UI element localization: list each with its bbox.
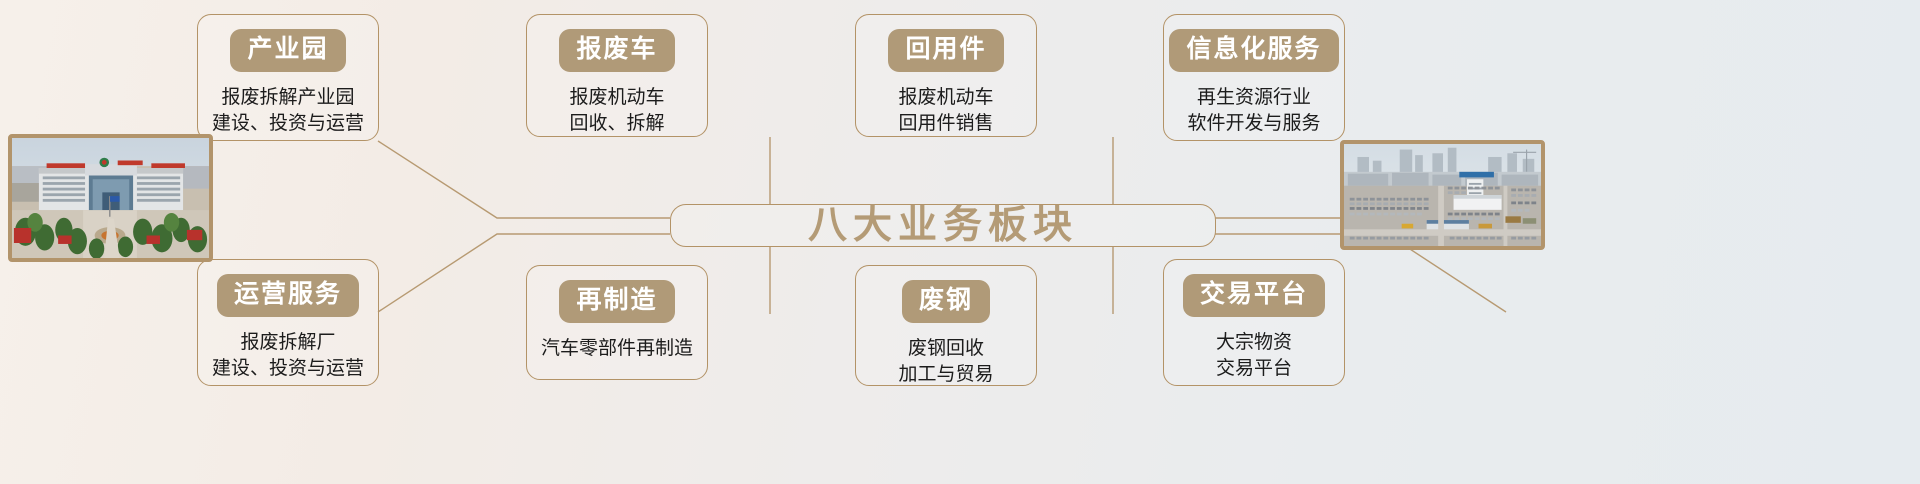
node-badge-reusable-parts: 回用件 <box>888 29 1003 72</box>
node-industrial-park[interactable]: 产业园 报废拆解产业园 建设、投资与运营 <box>197 14 379 141</box>
node-badge-it-service: 信息化服务 <box>1169 29 1338 72</box>
node-operation-service[interactable]: 运营服务 报废拆解厂 建设、投资与运营 <box>197 259 379 386</box>
node-desc-remanufacturing: 汽车零部件再制造 <box>541 336 693 362</box>
node-badge-remanufacturing: 再制造 <box>559 280 674 323</box>
node-desc-it-service: 再生资源行业 软件开发与服务 <box>1187 85 1320 137</box>
photo-vehicle-yard <box>1340 140 1545 250</box>
node-remanufacturing[interactable]: 再制造 汽车零部件再制造 <box>526 265 708 380</box>
node-trading-platform[interactable]: 交易平台 大宗物资 交易平台 <box>1163 259 1345 386</box>
node-desc-reusable-parts: 报废机动车 回用件销售 <box>898 85 993 137</box>
node-desc-operation-service: 报废拆解厂 建设、投资与运营 <box>212 330 364 382</box>
node-desc-scrap-steel: 废钢回收 加工与贸易 <box>898 336 993 388</box>
node-badge-industrial-park: 产业园 <box>230 29 345 72</box>
photo-industrial-park <box>8 134 213 262</box>
diagram-canvas: 八大业务板块 产业园 报废拆解产业园 建设、投资与运营 报废车 报废机动车 回收… <box>0 0 1920 484</box>
node-desc-industrial-park: 报废拆解产业园 建设、投资与运营 <box>212 85 364 137</box>
center-node[interactable]: 八大业务板块 <box>670 204 1216 247</box>
node-badge-scrap-steel: 废钢 <box>902 280 990 323</box>
node-desc-trading-platform: 大宗物资 交易平台 <box>1216 330 1292 382</box>
photo-right-art <box>1344 144 1541 246</box>
node-badge-scrap-vehicle: 报废车 <box>559 29 674 72</box>
photo-left-art <box>12 138 209 258</box>
node-reusable-parts[interactable]: 回用件 报废机动车 回用件销售 <box>855 14 1037 137</box>
node-scrap-vehicle[interactable]: 报废车 报废机动车 回收、拆解 <box>526 14 708 137</box>
node-badge-operation-service: 运营服务 <box>217 274 359 317</box>
center-node-title: 八大业务板块 <box>808 206 1078 245</box>
node-it-service[interactable]: 信息化服务 再生资源行业 软件开发与服务 <box>1163 14 1345 141</box>
node-badge-trading-platform: 交易平台 <box>1183 274 1325 317</box>
wire-to-industrial-park <box>378 141 670 218</box>
node-desc-scrap-vehicle: 报废机动车 回收、拆解 <box>569 85 664 137</box>
node-scrap-steel[interactable]: 废钢 废钢回收 加工与贸易 <box>855 265 1037 386</box>
